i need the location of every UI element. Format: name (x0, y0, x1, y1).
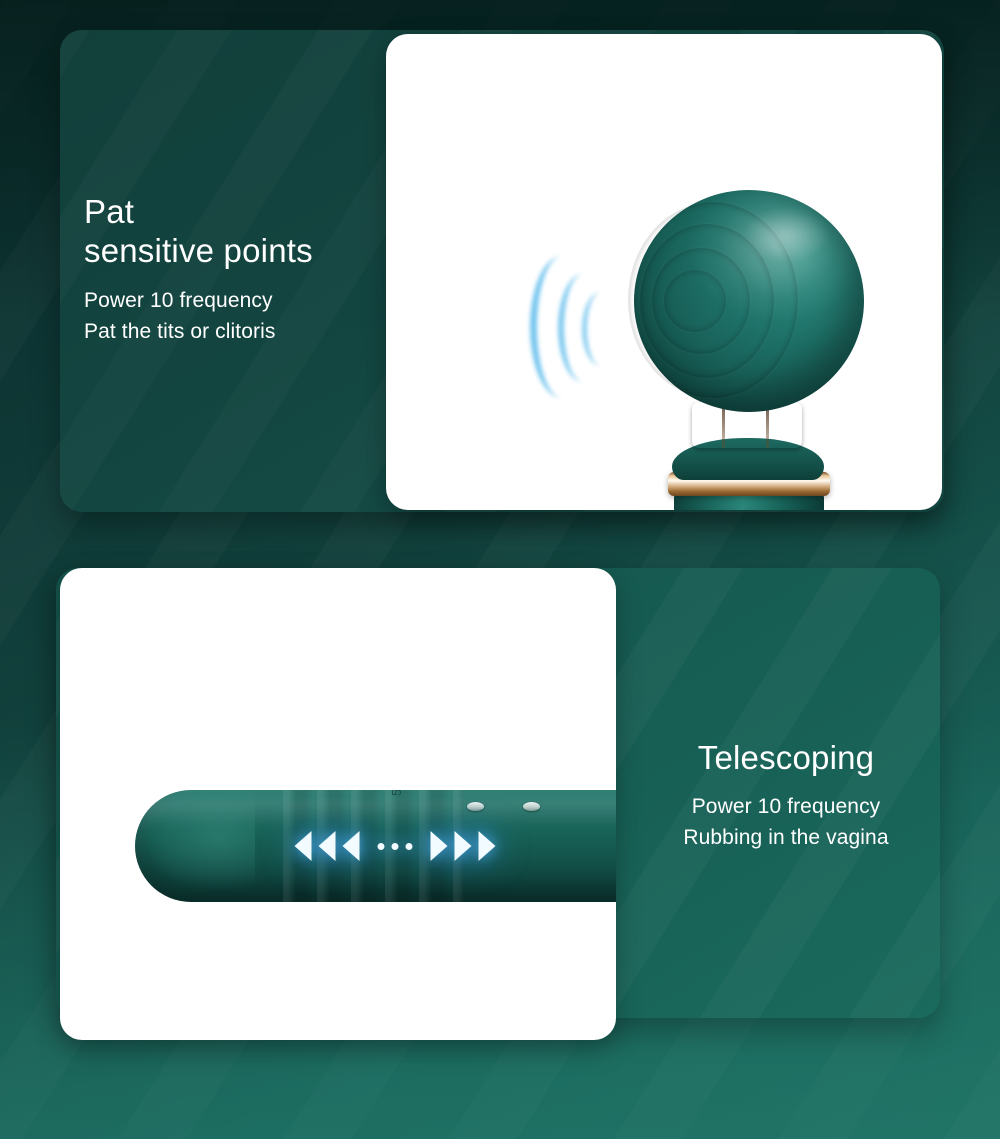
engraved-mark-left: 5V (389, 790, 404, 796)
panel-telescoping-sub-line1: Power 10 frequency (636, 791, 936, 822)
panel-telescoping-product-photo: 5V A (60, 568, 616, 1040)
indicator-dot-1 (378, 843, 385, 850)
panel-telescoping-subtext: Power 10 frequency Rubbing in the vagina (636, 791, 936, 853)
ball-head-massager-illustration (386, 34, 942, 510)
control-button-2 (523, 802, 540, 811)
chevron-right-icon-1 (431, 831, 448, 861)
panel-telescoping-headline: Telescoping (636, 738, 936, 777)
chevron-right-icon-2 (455, 831, 472, 861)
chevron-left-icon-2 (319, 831, 336, 861)
panel-pat-subtext: Power 10 frequency Pat the tits or clito… (84, 285, 384, 347)
shaft-top-highlight (135, 800, 616, 826)
product-ball-head (634, 190, 864, 412)
panel-pat-headline-line1: Pat (84, 192, 384, 231)
ball-head-highlight (742, 208, 830, 262)
telescoping-arrows-indicator (295, 831, 496, 861)
vibration-waves-icon (526, 252, 636, 402)
page-background: Pat sensitive points Power 10 frequency … (0, 0, 1000, 1139)
ripple-ring-4 (664, 270, 726, 332)
control-button-1 (467, 802, 484, 811)
panel-pat-headline-line2: sensitive points (84, 231, 384, 270)
panel-pat-sub-line1: Power 10 frequency (84, 285, 384, 316)
indicator-dot-3 (406, 843, 413, 850)
product-telescoping-shaft: 5V A (135, 790, 616, 902)
panel-telescoping-headline-line1: Telescoping (636, 738, 936, 777)
chevron-left-icon-3 (343, 831, 360, 861)
wave-arc-3 (582, 292, 620, 366)
panel-telescoping-sub-line2: Rubbing in the vagina (636, 822, 936, 853)
indicator-dot-2 (392, 843, 399, 850)
telescoping-shaft-illustration: 5V A (60, 568, 616, 1040)
chevron-right-icon-3 (479, 831, 496, 861)
panel-pat-sub-line2: Pat the tits or clitoris (84, 316, 384, 347)
panel-pat-headline: Pat sensitive points (84, 192, 384, 271)
panel-telescoping-text-block: Telescoping Power 10 frequency Rubbing i… (636, 738, 936, 853)
panel-pat-text-block: Pat sensitive points Power 10 frequency … (84, 192, 384, 347)
chevron-left-icon-1 (295, 831, 312, 861)
panel-pat-product-photo (386, 34, 942, 510)
